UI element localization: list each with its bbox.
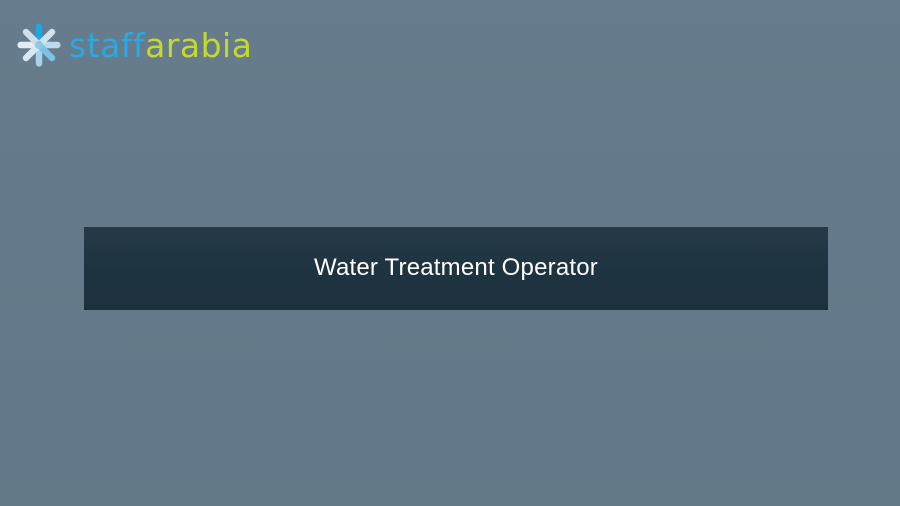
presentation-slide: staffarabia Water Treatment Operator <box>0 0 900 506</box>
brand-logo: staffarabia <box>16 21 252 69</box>
flower-center <box>35 41 43 49</box>
brand-wordmark: staffarabia <box>69 29 252 62</box>
title-band: Water Treatment Operator <box>84 227 828 310</box>
slide-title: Water Treatment Operator <box>314 255 598 281</box>
wordmark-staff: staff <box>69 26 145 65</box>
wordmark-arabia: arabia <box>145 26 252 65</box>
snowflake-flower-icon <box>16 22 62 68</box>
